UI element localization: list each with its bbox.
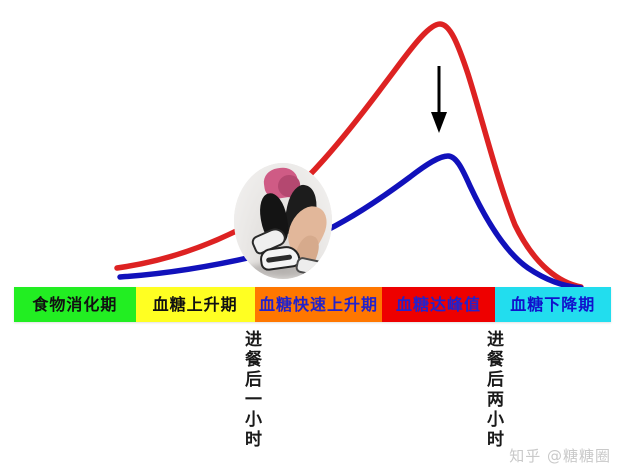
watermark: 知乎 @糖糖圈	[509, 445, 611, 466]
stage-segment-declining[interactable]: 血糖下降期	[495, 287, 611, 322]
stage-segment-label: 血糖快速上升期	[259, 297, 378, 313]
stage-segment-label: 食物消化期	[32, 297, 117, 313]
curve-red-no-exercise	[117, 24, 581, 287]
stage-segment-rapid-rising[interactable]: 血糖快速上升期	[255, 287, 383, 322]
infographic-canvas: 食物消化期 血糖上升期 血糖快速上升期 血糖达峰值 血糖下降期 进餐后一小时 进…	[0, 0, 619, 474]
time-label-two-hours: 进餐后两小时	[484, 330, 501, 450]
peak-drop-arrow-icon	[431, 66, 447, 133]
glucose-stage-bar: 食物消化期 血糖上升期 血糖快速上升期 血糖达峰值 血糖下降期	[14, 287, 611, 322]
stage-segment-digestion[interactable]: 食物消化期	[14, 287, 136, 322]
stage-segment-peak[interactable]: 血糖达峰值	[382, 287, 494, 322]
stage-segment-label: 血糖下降期	[510, 297, 595, 313]
time-label-one-hour: 进餐后一小时	[242, 330, 259, 450]
stage-segment-label: 血糖上升期	[153, 297, 238, 313]
runner-photo	[234, 163, 332, 279]
stage-segment-rising[interactable]: 血糖上升期	[136, 287, 255, 322]
stage-segment-label: 血糖达峰值	[396, 297, 481, 313]
curve-blue-with-exercise	[120, 156, 581, 288]
